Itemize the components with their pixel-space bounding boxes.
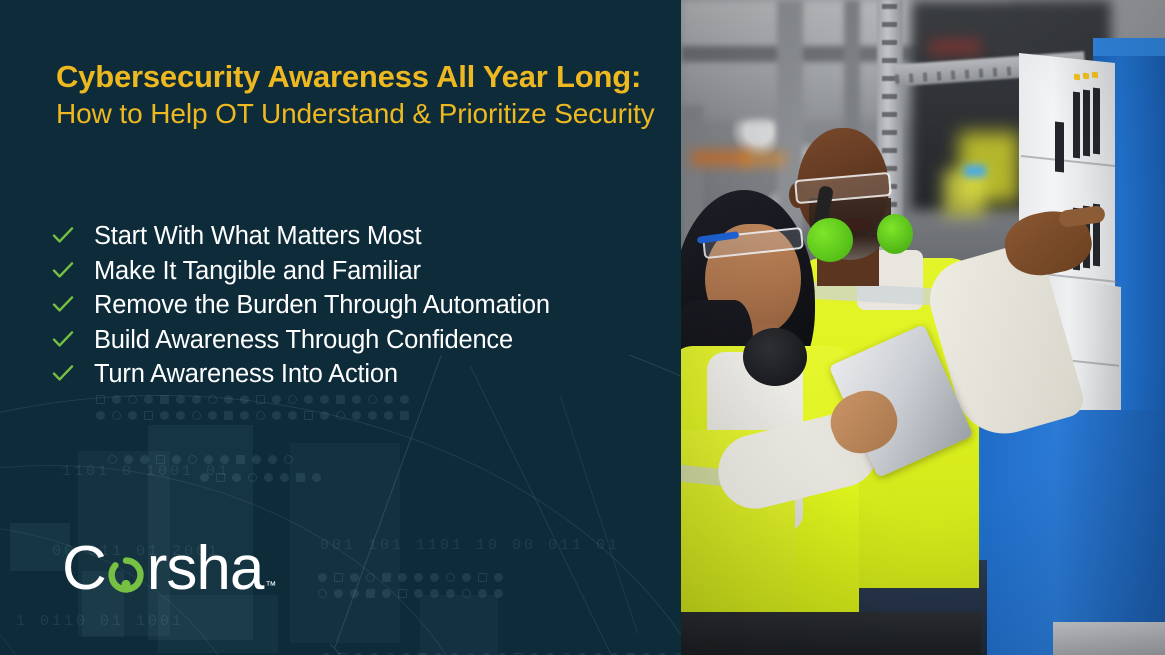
list-item: Make It Tangible and Familiar	[50, 253, 670, 288]
list-item-label: Turn Awareness Into Action	[94, 357, 398, 392]
logo-letters-rsha: rsha	[147, 538, 264, 600]
presentation-slide: 1101 0 1001 01 00 011 01 2001 001 101 11…	[0, 0, 1165, 655]
logo-letter-c: C	[62, 538, 106, 600]
texture-binary-row: 1101 0 1001 01	[62, 463, 230, 480]
list-item-label: Make It Tangible and Familiar	[94, 254, 421, 289]
logo-wordmark: C rsha ™	[62, 538, 276, 600]
slide-title-block: Cybersecurity Awareness All Year Long: H…	[56, 58, 666, 132]
check-icon	[50, 356, 94, 382]
list-item-label: Remove the Burden Through Automation	[94, 288, 550, 323]
list-item-label: Start With What Matters Most	[94, 219, 421, 254]
photo-vignette	[681, 0, 1165, 655]
list-item: Turn Awareness Into Action	[50, 356, 670, 391]
list-item: Build Awareness Through Confidence	[50, 322, 670, 357]
check-icon	[50, 322, 94, 348]
trademark-symbol: ™	[265, 581, 276, 592]
slide-content-panel: 1101 0 1001 01 00 011 01 2001 001 101 11…	[0, 0, 681, 655]
texture-dot-row	[96, 395, 409, 404]
check-icon	[50, 253, 94, 279]
corsha-logo: C rsha ™	[62, 538, 276, 600]
list-item: Start With What Matters Most	[50, 218, 670, 253]
check-icon	[50, 218, 94, 244]
texture-binary-row: 1 0110 01 1001	[16, 613, 184, 630]
slide-title: Cybersecurity Awareness All Year Long:	[56, 58, 666, 96]
logo-green-ring-icon	[107, 556, 145, 594]
texture-binary-row: 001 101 1101 10 00 011 01	[320, 537, 620, 554]
hero-photo	[681, 0, 1165, 655]
background-texture: 1101 0 1001 01 00 011 01 2001 001 101 11…	[0, 355, 681, 655]
list-item-label: Build Awareness Through Confidence	[94, 323, 513, 358]
bullet-list: Start With What Matters Most Make It Tan…	[50, 218, 670, 391]
check-icon	[50, 287, 94, 313]
texture-dot-row	[96, 411, 409, 420]
list-item: Remove the Burden Through Automation	[50, 287, 670, 322]
slide-subtitle: How to Help OT Understand & Prioritize S…	[56, 96, 666, 132]
texture-dot-row	[318, 589, 503, 598]
texture-dot-row	[318, 573, 503, 582]
